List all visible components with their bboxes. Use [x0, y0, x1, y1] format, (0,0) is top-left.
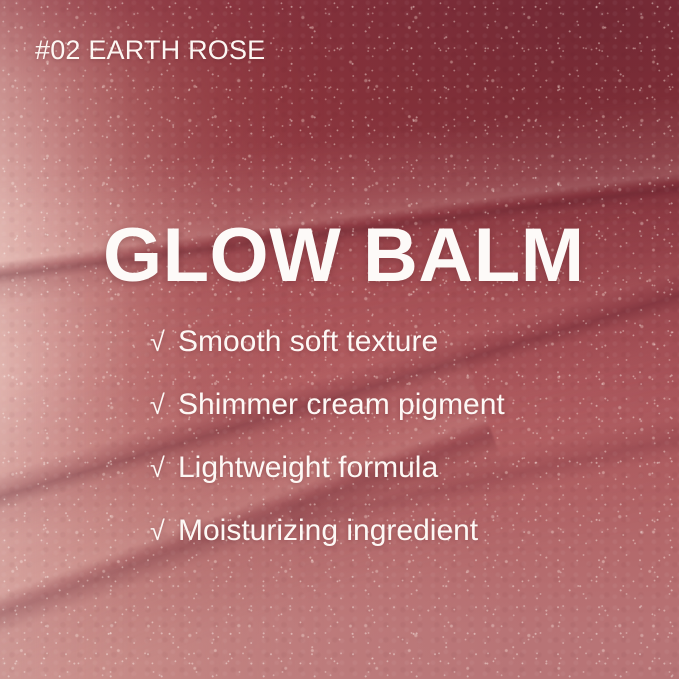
feature-list: √ Smooth soft texture √ Shimmer cream pi…: [150, 327, 505, 579]
check-icon: √: [150, 453, 178, 483]
check-icon: √: [150, 390, 178, 420]
banner-copy: #02 EARTH ROSE GLOW BALM √ Smooth soft t…: [0, 0, 679, 679]
product-banner: #02 EARTH ROSE GLOW BALM √ Smooth soft t…: [0, 0, 679, 679]
feature-label: Moisturizing ingredient: [178, 516, 478, 546]
feature-item: √ Lightweight formula: [150, 453, 505, 516]
shade-code-label: #02 EARTH ROSE: [35, 36, 265, 66]
feature-label: Lightweight formula: [178, 453, 438, 483]
feature-item: √ Smooth soft texture: [150, 327, 505, 390]
check-icon: √: [150, 516, 178, 546]
check-icon: √: [150, 327, 178, 357]
product-name-title: GLOW BALM: [103, 218, 585, 294]
feature-label: Smooth soft texture: [178, 327, 438, 357]
feature-item: √ Moisturizing ingredient: [150, 516, 505, 579]
feature-item: √ Shimmer cream pigment: [150, 390, 505, 453]
feature-label: Shimmer cream pigment: [178, 390, 505, 420]
